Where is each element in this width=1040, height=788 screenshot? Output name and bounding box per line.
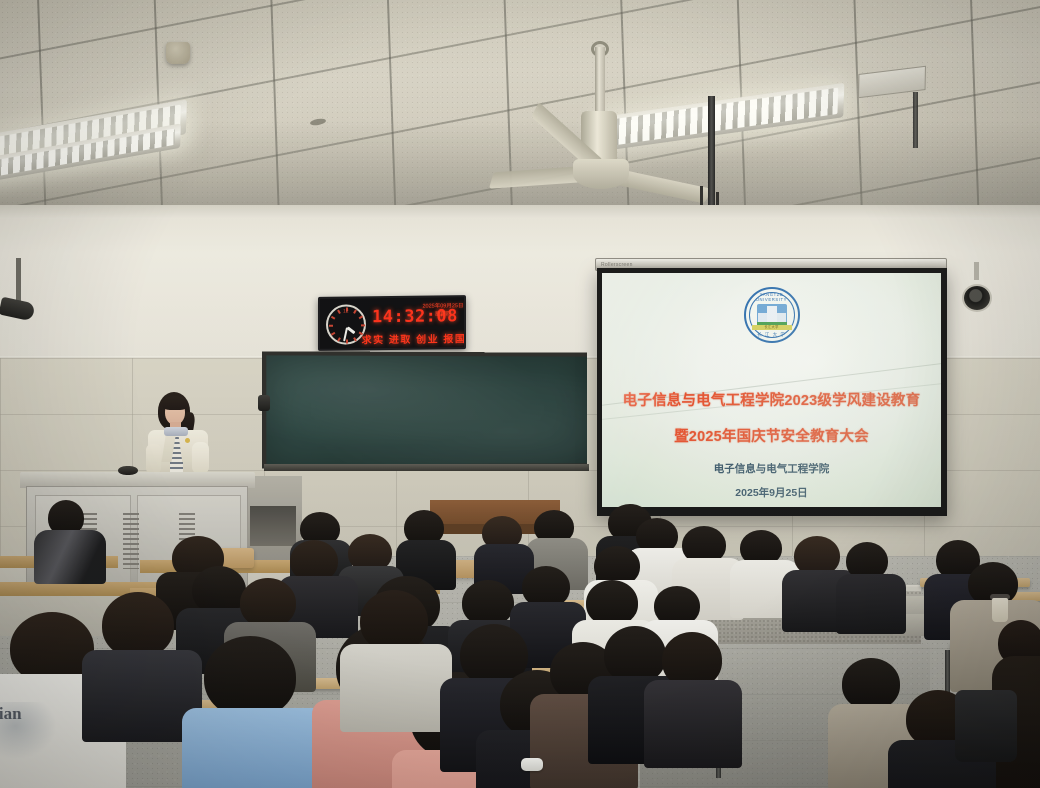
led-date-line1: 2025年09月25日: [420, 303, 466, 312]
wall-camera-left: [0, 300, 34, 330]
screen-support-pole-secondary: [913, 92, 918, 148]
blackboard-chalk-smudge: [266, 355, 587, 464]
presenter-arm: [192, 442, 209, 474]
blackboard: [262, 351, 587, 468]
drink-cup: [992, 598, 1008, 622]
wall-camera-right: [962, 276, 992, 306]
led-date-display: 2025年09月25日 星期四: [420, 303, 466, 319]
tshirt-text: talian: [0, 704, 22, 724]
led-date-line2: 星期四: [420, 311, 466, 320]
seal-chinese-text: 长 江 大 学: [746, 332, 798, 338]
led-clock-sign: 12 14:32:08 2025年09月25日 星期四 求实 进取 创业 报国: [318, 295, 466, 351]
camera-body: [0, 297, 35, 322]
camera-arm: [16, 258, 21, 304]
fan-hub: [573, 159, 629, 189]
led-motto-text: 求实 进取 创业 报国: [360, 330, 466, 346]
backpack: [955, 690, 1017, 762]
slide-date: 2025年9月25日: [602, 485, 941, 500]
wall-beam: [0, 205, 1040, 219]
university-seal-icon: YANGTZE UNIVERSITY 长江大学 长 江 大 学: [744, 287, 800, 343]
lectern-vent: [123, 513, 139, 569]
slide-department: 电子信息与电气工程学院: [714, 463, 830, 475]
blackboard-chalk-tray: [264, 464, 589, 471]
lectern-equipment-shelf: [250, 506, 296, 546]
slide-subtitle: 电子信息与电气工程学院 颜国琼: [602, 461, 941, 476]
presenter-arm: [146, 444, 161, 474]
computer-mouse[interactable]: [118, 466, 138, 475]
camera-arm: [974, 262, 979, 280]
slide-title-line1: 电子信息与电气工程学院2023级学风建设教育: [602, 389, 941, 410]
smoke-detector-icon: [166, 42, 190, 64]
presenter-brooch: [185, 438, 190, 443]
clock-numeral-12: 12: [343, 309, 349, 315]
seal-banner-text: 长江大学: [752, 325, 792, 330]
lecture-hall-photo: 12 14:32:08 2025年09月25日 星期四 求实 进取 创业 报国 …: [0, 0, 1040, 788]
projection-screen: YANGTZE UNIVERSITY 长江大学 长 江 大 学 电子信息与电气工…: [597, 268, 947, 516]
slide-title-line2: 暨2025年国庆节安全教育大会: [602, 425, 941, 446]
presenter-collar: [164, 427, 188, 436]
presenter-speaker: [140, 392, 214, 476]
presentation-slide: YANGTZE UNIVERSITY 长江大学 长 江 大 学 电子信息与电气工…: [602, 273, 941, 507]
presenter-fringe: [162, 396, 188, 410]
ceiling-fan: [517, 47, 707, 197]
blackboard-mount-knob: [258, 395, 270, 411]
seal-english-text: YANGTZE UNIVERSITY: [746, 292, 798, 302]
earbuds-case: [521, 758, 543, 771]
fan-downrod: [595, 47, 605, 117]
camera-lens-icon: [962, 284, 992, 312]
